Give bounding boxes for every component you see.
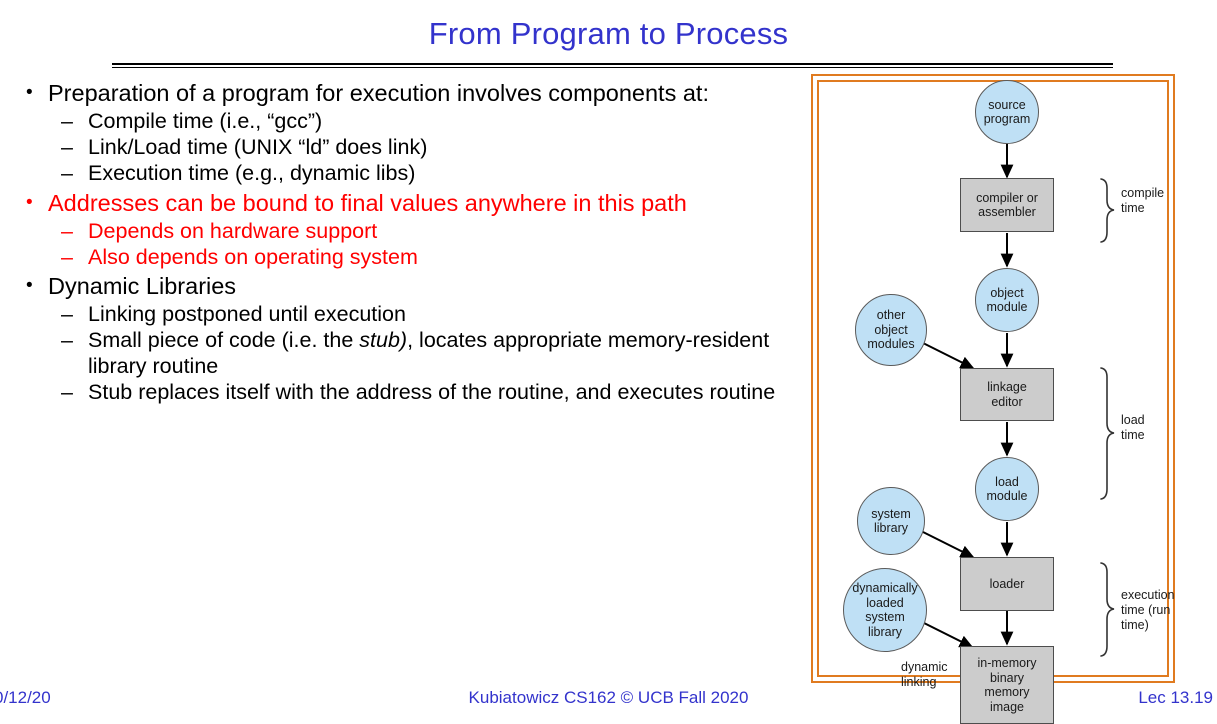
node-label: sourceprogram [984, 98, 1031, 127]
node-label: systemlibrary [871, 507, 911, 536]
title-divider [112, 63, 1113, 68]
bullet-marker: • [26, 79, 33, 106]
bullet-link-load-time: – Link/Load time (UNIX “ld” does link) [8, 134, 808, 160]
bullet-text: Link/Load time (UNIX “ld” does link) [88, 135, 427, 159]
node-label: loadmodule [987, 475, 1028, 504]
bullet-dynamic-libraries: • Dynamic Libraries [8, 273, 808, 300]
bullet-stub-replaces: – Stub replaces itself with the address … [8, 379, 808, 405]
figure-frame: sourceprogram compiler orassembler objec… [811, 74, 1175, 683]
page-title: From Program to Process [0, 16, 1217, 52]
bullet-compile-time: – Compile time (i.e., “gcc”) [8, 108, 808, 134]
bullet-text: Compile time (i.e., “gcc”) [88, 109, 322, 133]
annotation-text: dynamiclinking [901, 660, 948, 689]
bullet-text: Also depends on operating system [88, 245, 418, 269]
bullet-text: Preparation of a program for execution i… [48, 80, 709, 106]
node-label: otherobjectmodules [867, 308, 914, 352]
bullet-text: Dynamic Libraries [48, 273, 236, 299]
node-loader: loader [960, 557, 1054, 611]
bullet-operating-system: – Also depends on operating system [8, 244, 808, 270]
program-to-process-diagram: sourceprogram compiler orassembler objec… [813, 76, 1173, 681]
bullet-marker: – [61, 134, 73, 160]
node-other-object-modules: otherobjectmodules [855, 294, 927, 366]
node-object-module: objectmodule [975, 268, 1039, 332]
bullet-text: Depends on hardware support [88, 219, 377, 243]
bullet-execution-time: – Execution time (e.g., dynamic libs) [8, 160, 808, 186]
bullet-marker: – [61, 379, 73, 405]
bullet-marker: • [26, 189, 33, 216]
annotation-compile-time: compiletime [1121, 186, 1164, 216]
node-label: dynamicallyloadedsystemlibrary [852, 581, 917, 639]
bullet-hardware-support: – Depends on hardware support [8, 218, 808, 244]
slide-body: • Preparation of a program for execution… [8, 80, 808, 405]
node-dynamically-loaded-system-library: dynamicallyloadedsystemlibrary [843, 568, 927, 652]
bullet-text: Stub replaces itself with the address of… [88, 380, 775, 404]
bullet-text: Addresses can be bound to final values a… [48, 190, 687, 216]
node-label: objectmodule [987, 286, 1028, 315]
footer-lecture-number: Lec 13.19 [1138, 688, 1213, 708]
bullet-addresses-bound: • Addresses can be bound to final values… [8, 190, 808, 217]
node-system-library: systemlibrary [857, 487, 925, 555]
node-label: loader [990, 577, 1025, 592]
bullet-small-piece-of-code: –Small piece of code (i.e. the stub), lo… [8, 327, 808, 379]
bullet-preparation: • Preparation of a program for execution… [8, 80, 808, 107]
annotation-text: executiontime (runtime) [1121, 588, 1175, 632]
bullet-text-pre: Small piece of code (i.e. the [88, 328, 359, 352]
bullet-marker: – [61, 160, 73, 186]
annotation-text: compiletime [1121, 186, 1164, 215]
bullet-marker: – [61, 301, 73, 327]
node-label: linkageeditor [987, 380, 1027, 409]
bullet-text: Linking postponed until execution [88, 302, 406, 326]
bullet-marker: – [61, 244, 73, 270]
bullet-marker: – [61, 218, 73, 244]
bullet-marker: – [61, 108, 73, 134]
bullet-marker: – [61, 327, 73, 353]
node-in-memory-binary-memory-image: in-memorybinarymemoryimage [960, 646, 1054, 724]
footer-attribution: Kubiatowicz CS162 © UCB Fall 2020 [0, 688, 1217, 708]
annotation-execution-time: executiontime (runtime) [1121, 588, 1175, 633]
node-load-module: loadmodule [975, 457, 1039, 521]
bullet-text: Execution time (e.g., dynamic libs) [88, 161, 415, 185]
node-label: compiler orassembler [976, 191, 1038, 220]
bullet-marker: • [26, 272, 33, 299]
node-compiler-or-assembler: compiler orassembler [960, 178, 1054, 232]
annotation-text: loadtime [1121, 413, 1145, 442]
annotation-dynamic-linking: dynamiclinking [901, 660, 948, 690]
bullet-linking-postponed: – Linking postponed until execution [8, 301, 808, 327]
node-source-program: sourceprogram [975, 80, 1039, 144]
bullet-text-italic: stub) [359, 328, 407, 352]
node-linkage-editor: linkageeditor [960, 368, 1054, 421]
annotation-load-time: loadtime [1121, 413, 1145, 443]
